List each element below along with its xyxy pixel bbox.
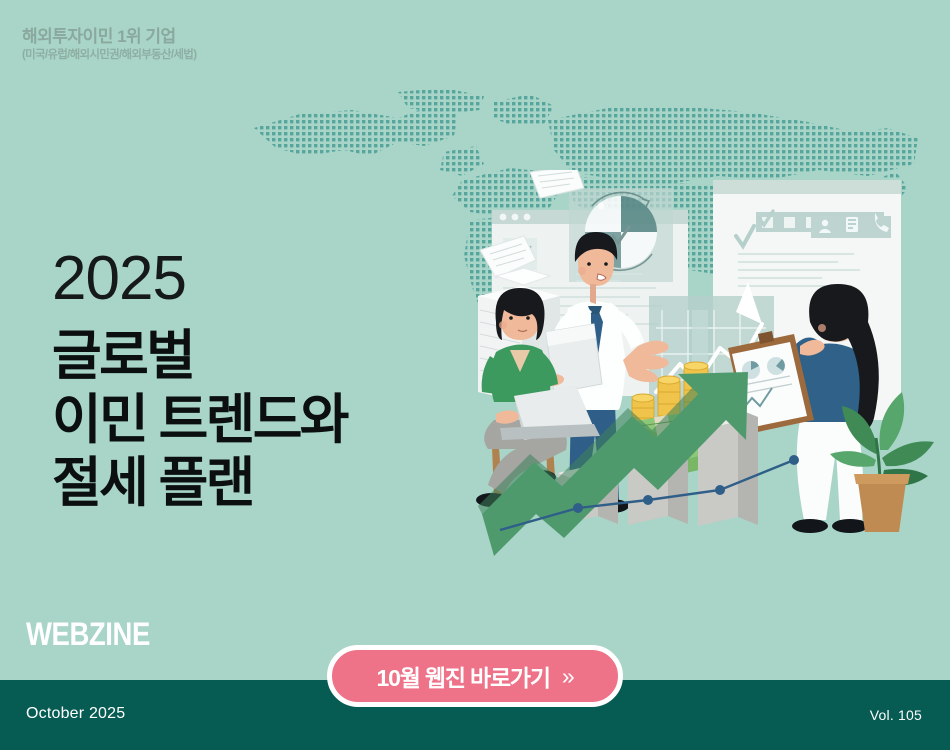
headline-block: 2025 글로벌 이민 트렌드와 절세 플랜 xyxy=(52,250,347,516)
global-immigration-finance-illustration xyxy=(470,170,950,585)
webzine-wordmark: WEBZINE xyxy=(26,618,150,650)
tagline-secondary: (미국/유럽/해외시민권/해외부동산/세법) xyxy=(22,48,196,63)
footer-date: October 2025 xyxy=(26,706,125,722)
double-chevron-right-icon: » xyxy=(562,665,574,688)
contact-icon-strip xyxy=(811,213,891,238)
tagline-primary: 해외투자이민 1위 기업 xyxy=(22,26,196,47)
cta-label: 10월 웹진 바로가기 xyxy=(377,659,550,693)
footer-volume: Vol. 105 xyxy=(870,708,922,722)
webzine-banner: 해외투자이민 1위 기업 (미국/유럽/해외시민권/해외부동산/세법) xyxy=(0,0,950,750)
headline-line-1: 글로벌 xyxy=(52,325,347,389)
headline-line-3: 절세 플랜 xyxy=(52,452,347,516)
headline-year: 2025 xyxy=(52,250,347,309)
go-to-webzine-button[interactable]: 10월 웹진 바로가기 » xyxy=(327,645,623,707)
header-tagline-block: 해외투자이민 1위 기업 (미국/유럽/해외시민권/해외부동산/세법) xyxy=(22,26,196,63)
headline-line-2: 이민 트렌드와 xyxy=(52,389,347,453)
